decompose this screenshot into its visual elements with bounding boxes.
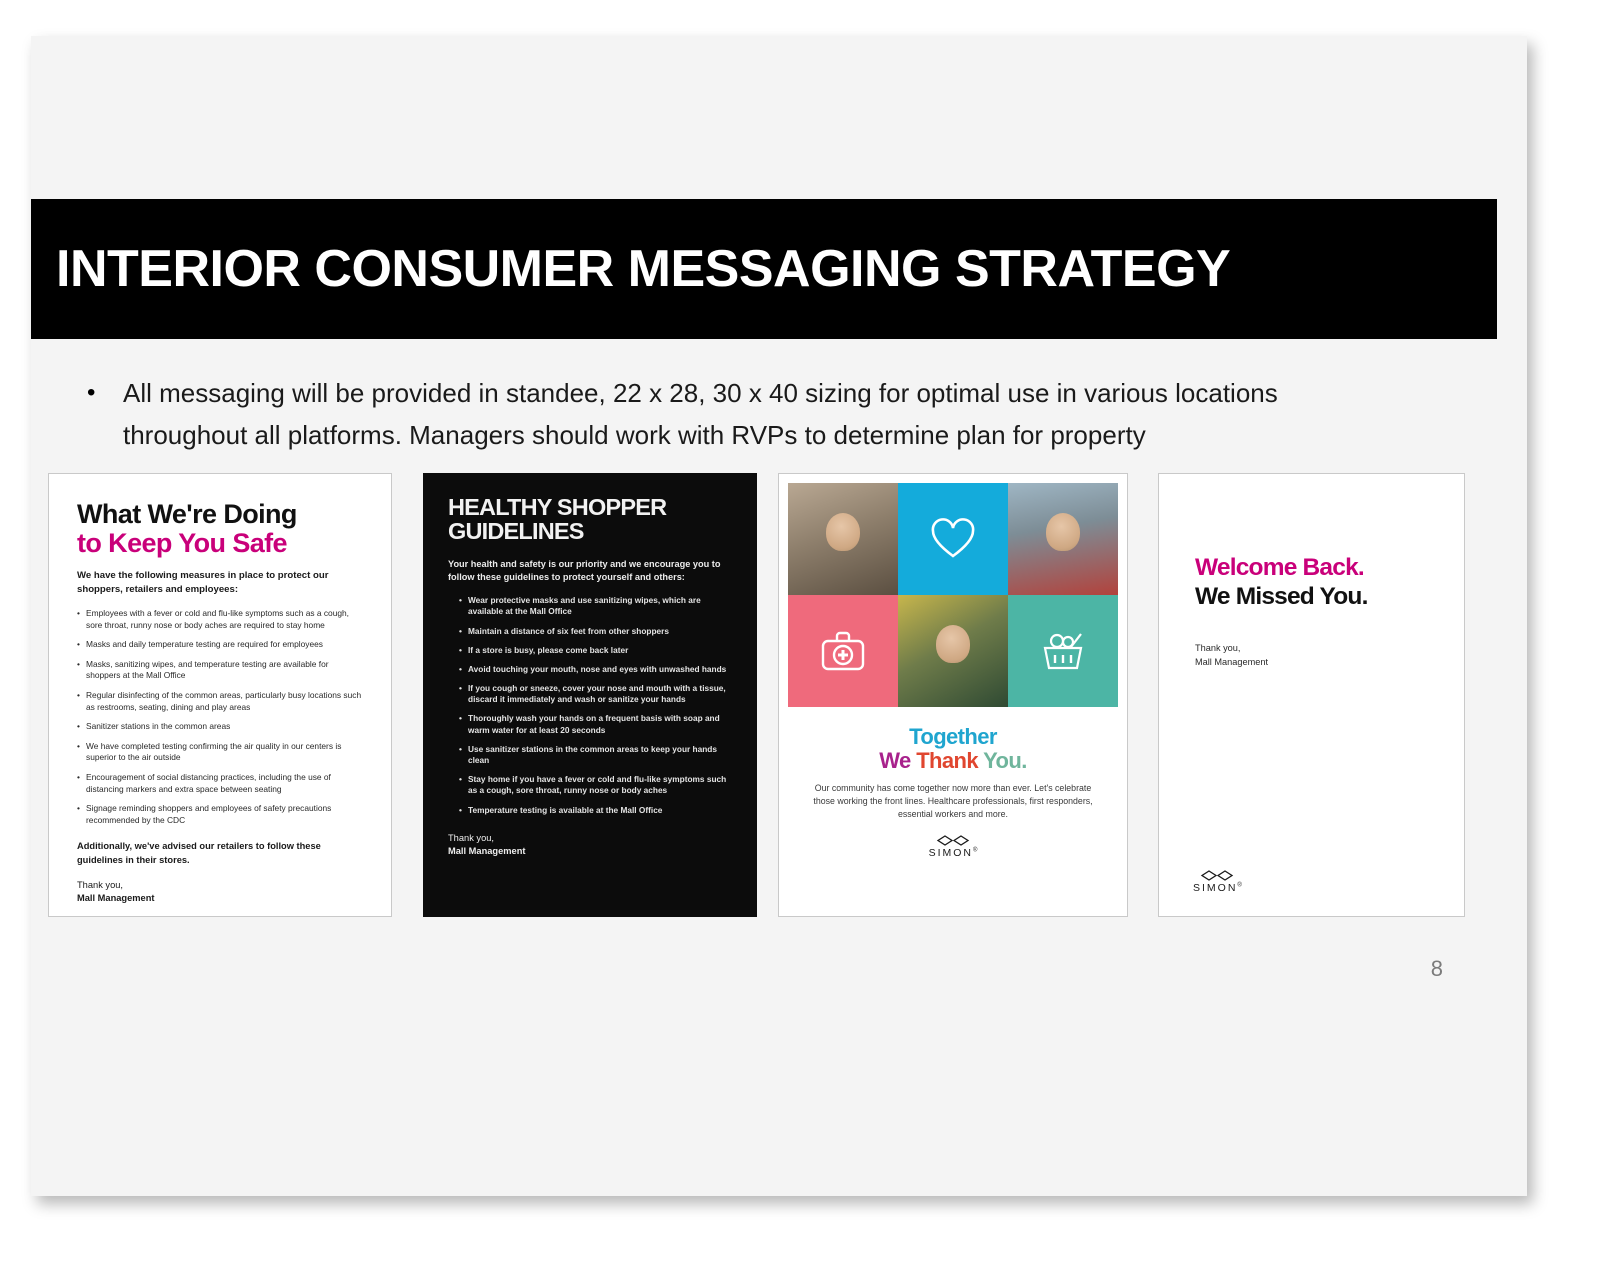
healthcare-worker-photo — [1008, 483, 1118, 595]
poster4-thank-you: Thank you, — [1195, 643, 1240, 653]
simon-wordmark: SIMON — [1193, 882, 1237, 894]
poster3-heading-thank: Thank — [916, 748, 983, 773]
bullet-marker-icon: • — [87, 372, 123, 456]
poster4-signature: Mall Management — [1195, 657, 1268, 667]
slide: INTERIOR CONSUMER MESSAGING STRATEGY • A… — [31, 36, 1527, 1196]
list-item: Sanitizer stations in the common areas — [77, 721, 363, 733]
poster4-signoff: Thank you, Mall Management — [1195, 642, 1464, 670]
poster1-bullet-list: Employees with a fever or cold and flu-l… — [77, 608, 363, 826]
poster-together-we-thank-you[interactable]: Together We Thank You. Our community has… — [778, 473, 1128, 917]
poster1-thank-you: Thank you, — [77, 880, 123, 890]
emergency-responders-photo — [898, 595, 1008, 707]
list-item: We have completed testing confirming the… — [77, 741, 363, 764]
list-item: Wear protective masks and use sanitizing… — [459, 595, 732, 617]
poster2-lead: Your health and safety is our priority a… — [448, 558, 732, 584]
poster1-signoff: Thank you, Mall Management — [77, 879, 363, 906]
poster-welcome-back[interactable]: Welcome Back. We Missed You. Thank you, … — [1158, 473, 1465, 917]
poster2-signature: Mall Management — [448, 846, 526, 856]
delivery-worker-photo — [788, 483, 898, 595]
list-item: If a store is busy, please come back lat… — [459, 645, 732, 656]
poster1-lead: We have the following measures in place … — [77, 569, 363, 597]
poster-healthy-shopper-guidelines[interactable]: HEALTHY SHOPPER GUIDELINES Your health a… — [423, 473, 757, 917]
poster3-headline: Together We Thank You. — [788, 725, 1118, 773]
list-item: Masks and daily temperature testing are … — [77, 639, 363, 651]
poster3-tile-grid — [788, 483, 1118, 707]
heart-icon — [898, 483, 1008, 595]
grocery-basket-icon — [1008, 595, 1118, 707]
first-aid-kit-icon — [788, 595, 898, 707]
poster1-heading-line1: What We're Doing — [77, 500, 363, 529]
list-item: Regular disinfecting of the common areas… — [77, 690, 363, 713]
poster1-signature: Mall Management — [77, 893, 155, 903]
poster3-heading-together: Together — [788, 725, 1118, 749]
simon-registered-mark: ® — [1237, 883, 1241, 889]
page-number: 8 — [1431, 956, 1443, 982]
poster-gallery: What We're Doing to Keep You Safe We hav… — [31, 473, 1527, 918]
bullet-block: • All messaging will be provided in stan… — [87, 372, 1427, 456]
simon-diamond-mark-icon — [936, 835, 970, 846]
simon-diamond-mark-icon — [1200, 870, 1234, 881]
simon-logo: SIMON® — [788, 835, 1118, 859]
list-item: Maintain a distance of six feet from oth… — [459, 626, 732, 637]
simon-wordmark: SIMON — [929, 847, 973, 859]
poster2-heading-line2: GUIDELINES — [448, 520, 732, 544]
list-item: Encouragement of social distancing pract… — [77, 772, 363, 795]
poster-what-were-doing[interactable]: What We're Doing to Keep You Safe We hav… — [48, 473, 392, 917]
list-item: Temperature testing is available at the … — [459, 805, 732, 816]
page-title: INTERIOR CONSUMER MESSAGING STRATEGY — [31, 239, 1230, 299]
poster3-heading-you: You. — [983, 748, 1027, 773]
bullet-line-1: All messaging will be provided in stande… — [123, 372, 1278, 414]
list-item: Stay home if you have a fever or cold an… — [459, 774, 732, 796]
poster1-additional-note: Additionally, we've advised our retailer… — [77, 840, 363, 866]
poster3-body: Our community has come together now more… — [788, 782, 1118, 822]
poster3-heading-we: We — [879, 748, 916, 773]
poster2-thank-you: Thank you, — [448, 833, 494, 843]
poster2-bullet-list: Wear protective masks and use sanitizing… — [448, 595, 732, 816]
poster4-heading-line1: Welcome Back. — [1195, 554, 1464, 583]
list-item: Thoroughly wash your hands on a frequent… — [459, 713, 732, 735]
poster1-heading-line2: to Keep You Safe — [77, 529, 363, 558]
list-item: Use sanitizer stations in the common are… — [459, 744, 732, 766]
slide-title-bar: INTERIOR CONSUMER MESSAGING STRATEGY — [31, 199, 1497, 339]
list-item: Avoid touching your mouth, nose and eyes… — [459, 664, 732, 675]
bullet-line-2: throughout all platforms. Managers shoul… — [123, 414, 1278, 456]
simon-registered-mark: ® — [973, 848, 977, 854]
list-item: If you cough or sneeze, cover your nose … — [459, 683, 732, 705]
poster2-signoff: Thank you, Mall Management — [448, 832, 732, 859]
poster4-heading-line2: We Missed You. — [1195, 583, 1464, 612]
list-item: Signage reminding shoppers and employees… — [77, 803, 363, 826]
simon-logo: SIMON® — [1193, 870, 1242, 894]
list-item: Employees with a fever or cold and flu-l… — [77, 608, 363, 631]
list-item: Masks, sanitizing wipes, and temperature… — [77, 659, 363, 682]
poster2-heading-line1: HEALTHY SHOPPER — [448, 496, 732, 520]
